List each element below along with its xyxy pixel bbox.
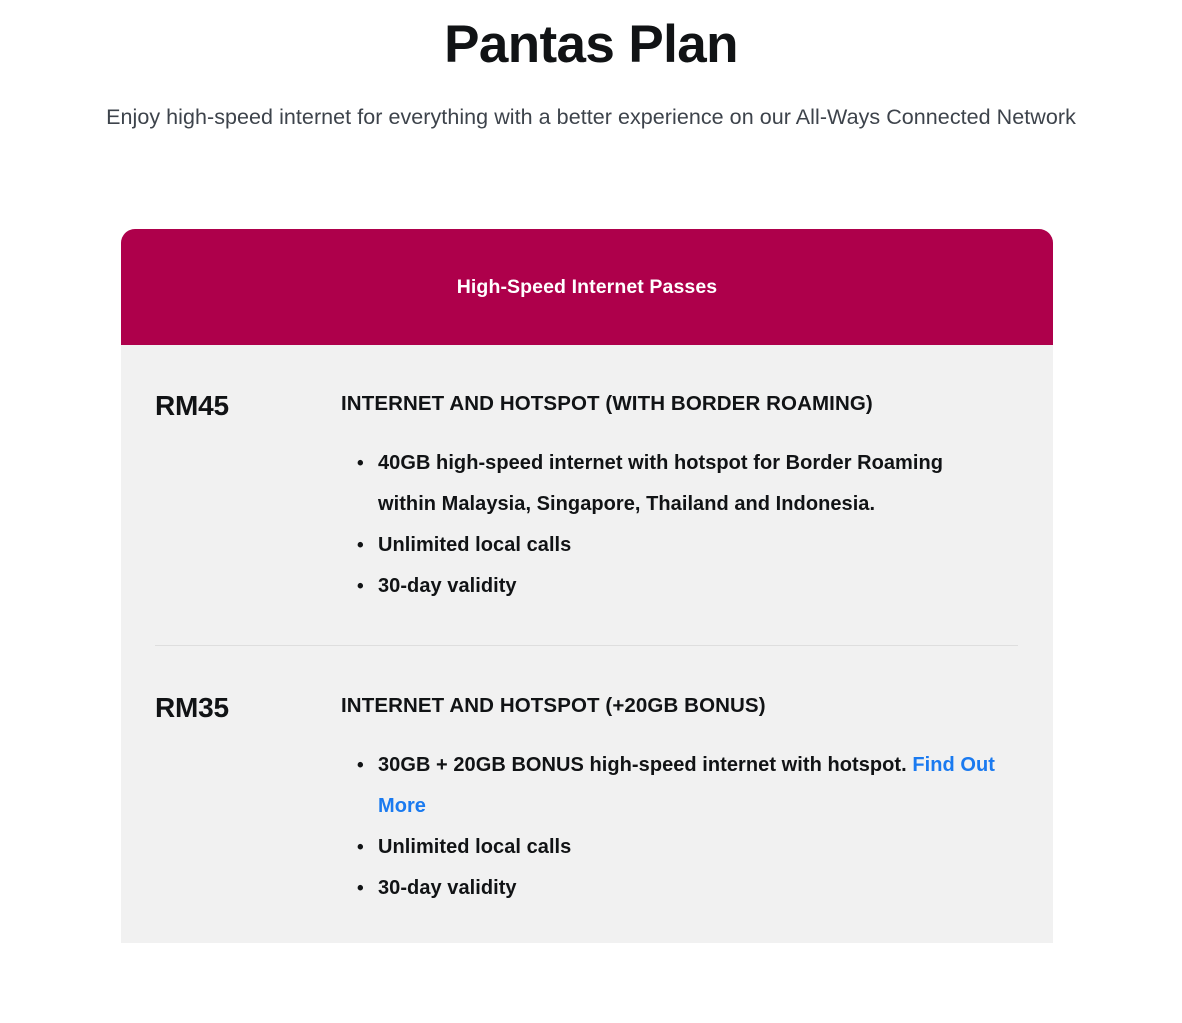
plan-feature-text: 30-day validity — [378, 575, 517, 597]
plan-card-banner-title: High-Speed Internet Passes — [457, 276, 718, 299]
plan-row: RM45 INTERNET AND HOTSPOT (WITH BORDER R… — [121, 345, 1053, 607]
plan-feature-text: 30GB + 20GB BONUS high-speed internet wi… — [378, 754, 907, 776]
plan-feature-text: 30-day validity — [378, 877, 517, 899]
plan-feature-item: 40GB high-speed internet with hotspot fo… — [378, 443, 998, 525]
plan-feature-list: 30GB + 20GB BONUS high-speed internet wi… — [341, 745, 998, 909]
page-subtitle: Enjoy high-speed internet for everything… — [86, 98, 1096, 137]
plan-feature-list: 40GB high-speed internet with hotspot fo… — [341, 443, 998, 607]
plan-feature-text: 40GB high-speed internet with hotspot fo… — [378, 452, 943, 515]
page-title: Pantas Plan — [0, 14, 1182, 76]
plan-feature-item: Unlimited local calls — [378, 525, 998, 566]
plan-row: RM35 INTERNET AND HOTSPOT (+20GB BONUS) … — [121, 646, 1053, 909]
plan-name: INTERNET AND HOTSPOT (WITH BORDER ROAMIN… — [341, 387, 901, 421]
plan-name: INTERNET AND HOTSPOT (+20GB BONUS) — [341, 689, 901, 723]
plan-feature-text: Unlimited local calls — [378, 836, 571, 858]
plan-feature-item: 30-day validity — [378, 868, 998, 909]
pantas-plan-page: Pantas Plan Enjoy high-speed internet fo… — [0, 0, 1182, 1023]
plan-feature-item: Unlimited local calls — [378, 827, 998, 868]
plan-price: RM35 — [155, 689, 341, 726]
plan-price: RM45 — [155, 387, 341, 424]
plan-card-body: RM45 INTERNET AND HOTSPOT (WITH BORDER R… — [121, 345, 1053, 943]
plan-feature-text: Unlimited local calls — [378, 534, 571, 556]
plan-details: INTERNET AND HOTSPOT (+20GB BONUS) 30GB … — [341, 689, 1018, 909]
page-header: Pantas Plan Enjoy high-speed internet fo… — [0, 0, 1182, 137]
plan-card-banner: High-Speed Internet Passes — [121, 229, 1053, 345]
plan-feature-item: 30GB + 20GB BONUS high-speed internet wi… — [378, 745, 998, 827]
plan-card: High-Speed Internet Passes RM45 INTERNET… — [121, 229, 1053, 943]
plan-card-bottom-spacer — [121, 909, 1053, 943]
plan-feature-item: 30-day validity — [378, 566, 998, 607]
plan-details: INTERNET AND HOTSPOT (WITH BORDER ROAMIN… — [341, 387, 1018, 607]
